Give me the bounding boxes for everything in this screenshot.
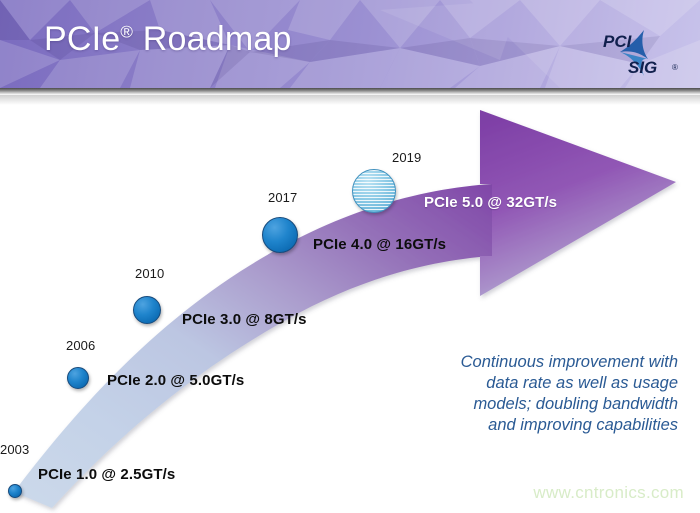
milestone-label-2010: PCIe 3.0 @ 8GT/s <box>182 311 307 328</box>
svg-text:SIG: SIG <box>628 58 657 77</box>
milestone-marker-2010[interactable] <box>133 296 161 324</box>
slide-root: PCIe® Roadmap PCI SIG ® <box>0 0 700 513</box>
milestone-year-2010: 2010 <box>135 266 164 281</box>
svg-text:®: ® <box>672 63 678 72</box>
page-title-rest: Roadmap <box>133 20 291 58</box>
caption-line-4: and improving capabilities <box>388 415 678 436</box>
site-watermark: www.cntronics.com <box>533 483 684 503</box>
milestone-year-2019: 2019 <box>392 150 421 165</box>
page-title-main: PCIe <box>44 20 120 58</box>
milestone-year-2017: 2017 <box>268 190 297 205</box>
pci-sig-logo-icon: PCI SIG ® <box>586 26 682 80</box>
roadmap-arrow-graphic <box>0 88 700 513</box>
caption-line-2: data rate as well as usage <box>388 373 678 394</box>
milestone-label-2006: PCIe 2.0 @ 5.0GT/s <box>107 372 244 389</box>
slide-header: PCIe® Roadmap PCI SIG ® <box>0 0 700 88</box>
registered-trademark-icon: ® <box>120 23 133 42</box>
milestone-marker-2006[interactable] <box>67 367 89 389</box>
milestone-marker-2017[interactable] <box>262 217 298 253</box>
milestone-label-2017: PCIe 4.0 @ 16GT/s <box>313 236 446 253</box>
milestone-year-2006: 2006 <box>66 338 95 353</box>
pci-sig-logo: PCI SIG ® <box>586 26 682 80</box>
svg-text:PCI: PCI <box>603 32 633 51</box>
roadmap-caption: Continuous improvement with data rate as… <box>388 352 678 436</box>
milestone-marker-2019[interactable] <box>352 169 396 213</box>
roadmap-arrow <box>0 88 700 513</box>
milestone-marker-2003[interactable] <box>8 484 22 498</box>
caption-line-3: models; doubling bandwidth <box>388 394 678 415</box>
milestone-year-2003: 2003 <box>0 442 29 457</box>
page-title: PCIe® Roadmap <box>44 20 292 59</box>
caption-line-1: Continuous improvement with <box>388 352 678 373</box>
milestone-label-2003: PCIe 1.0 @ 2.5GT/s <box>38 466 175 483</box>
milestone-label-2019: PCIe 5.0 @ 32GT/s <box>424 194 557 211</box>
